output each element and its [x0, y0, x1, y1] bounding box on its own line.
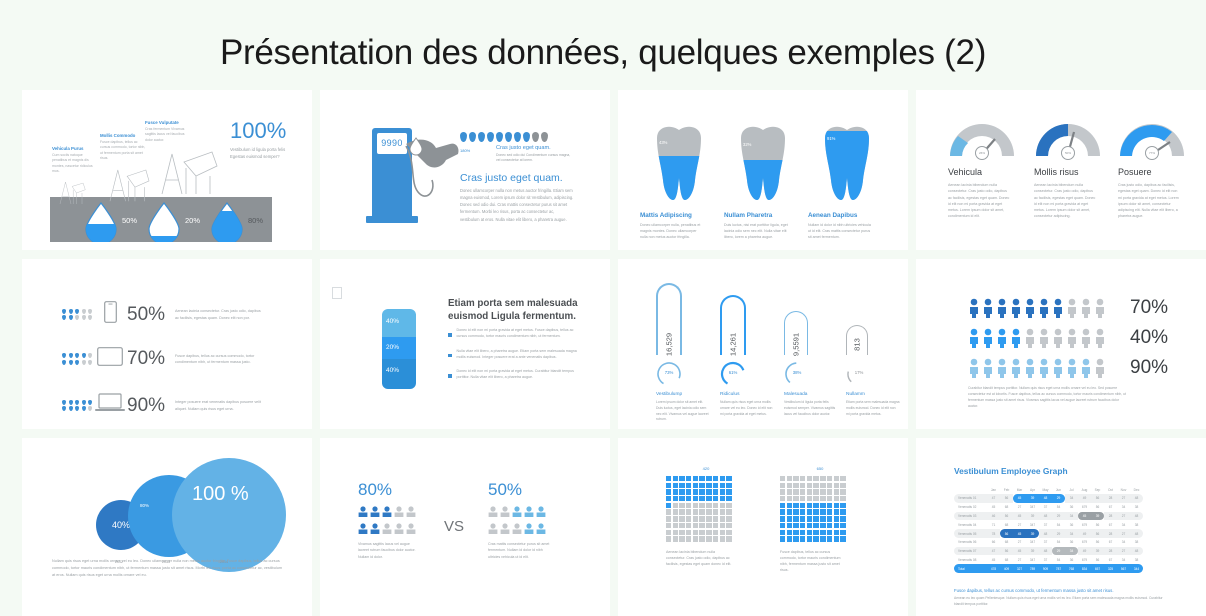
table-row[interactable]: Venenatis 03465645394829344539282748	[954, 512, 1143, 521]
tube-icon: 813	[846, 325, 868, 355]
waffle-cell	[813, 483, 818, 488]
waffle-cell	[793, 536, 798, 541]
waffle-cell	[706, 496, 711, 501]
table-cell: 68	[1000, 520, 1013, 529]
waffle-grid-0	[666, 476, 746, 542]
drop-icon	[75, 353, 79, 358]
waffle-cell	[713, 483, 718, 488]
waffle-text-1: Fusce dapibus, tellus ac cursus commodo,…	[780, 549, 846, 574]
tooth-block-1: 32% Nullam Pharetra Duis luctus, nisi er…	[724, 124, 802, 240]
gauge-block-0: 26% Vehicula Aenean lacinia bibendum nul…	[948, 122, 1030, 220]
gauge-block-2: 77% Posuere Cras justo odio, dapibus ac …	[1118, 122, 1200, 220]
waffle-cell	[686, 489, 691, 494]
drop-icon-empty	[82, 315, 86, 320]
card-people-pictogram[interactable]: 70% 40%	[916, 259, 1206, 429]
waffle-cell	[793, 476, 798, 481]
drop-icon	[478, 132, 485, 142]
waffle-text-0: Aenean lacinia bibendum nulla consectetu…	[666, 549, 732, 568]
table-cell: 49	[1078, 529, 1091, 538]
device-text-0: Aenean lacinia consectetur. Cras justo o…	[175, 308, 261, 321]
waffle-cell	[686, 509, 691, 514]
table-cell: 327	[1013, 564, 1026, 573]
table-cell: 29	[1052, 512, 1065, 521]
table-cell: 48	[1039, 529, 1052, 538]
card-devices[interactable]: 50% Aenean lacinia consectetur. Cras jus…	[22, 259, 312, 429]
people-icons-1	[968, 328, 1118, 348]
waffle-cell	[679, 523, 684, 528]
waffle-label-0: 420	[666, 466, 746, 471]
bullet-item: Donec id elit non mi porta gravida at eg…	[448, 327, 578, 340]
table-cell: 37	[1039, 520, 1052, 529]
card-waffle-charts[interactable]: 420 Aenean lacinia bibendum nulla consec…	[618, 438, 908, 616]
table-cell: 56	[1091, 555, 1104, 564]
waffle-cell	[827, 536, 832, 541]
waffle-cell	[840, 489, 845, 494]
table-cell: 39	[1091, 512, 1104, 521]
table-cell: 325	[1104, 564, 1117, 573]
month-header: Feb	[1000, 486, 1013, 494]
table-cell: 27	[1013, 520, 1026, 529]
waffle-cell	[813, 489, 818, 494]
card-tubes[interactable]: 16,529 73% Vestibulump Lorem ipsum dolor…	[618, 259, 908, 429]
drop-icon	[69, 406, 73, 411]
waffle-cell	[666, 536, 671, 541]
waffle-cell	[834, 523, 839, 528]
employee-footer-link[interactable]: Fusce dapibus, tellus ac cursus commodo,…	[954, 588, 1114, 593]
tube-value-3: 813	[853, 338, 862, 351]
waffle-cell	[793, 509, 798, 514]
waffle-cell	[780, 509, 785, 514]
drop-icon	[62, 406, 66, 411]
drop-icon	[69, 309, 73, 314]
waffle-cell	[827, 476, 832, 481]
tablet-icon	[93, 347, 127, 371]
waffle-cell	[840, 496, 845, 501]
table-cell: 48	[1039, 512, 1052, 521]
waffle-cell	[713, 503, 718, 508]
waffle-cell	[713, 509, 718, 514]
card-teeth[interactable]: 43% Mattis Adipiscing Donec ullamcorper …	[618, 90, 908, 250]
waffle-cell	[793, 523, 798, 528]
people-icons-2	[968, 358, 1118, 378]
gauge-text-0: Aenean lacinia bibendum nulla consectetu…	[948, 182, 1010, 220]
bullet-text-1: Nulla vitae elit libero, a pharetra augu…	[457, 348, 579, 361]
table-cell: 36	[1065, 503, 1078, 512]
drop-icon	[69, 400, 73, 405]
employee-table[interactable]: JanFebMarAprMayJunJulAugSepOctNovDecVene…	[954, 486, 1143, 573]
table-cell: 344	[1130, 564, 1143, 573]
bottle-icon: 40% 20% 40%	[382, 297, 416, 389]
waffle-cell	[713, 523, 718, 528]
tooth-title-2: Aenean Dapibus	[808, 212, 886, 219]
bullet-dot	[448, 333, 452, 337]
table-cell: 28	[1104, 529, 1117, 538]
oil-drop-2	[210, 202, 244, 247]
waffle-cell	[834, 489, 839, 494]
waffle-cell	[699, 536, 704, 541]
table-cell: 679	[1078, 538, 1091, 547]
waffle-cell	[840, 476, 845, 481]
waffle-cell	[813, 536, 818, 541]
people-row-2: 90%	[968, 357, 1168, 379]
drop-icon	[496, 132, 503, 142]
waffle-cell	[807, 530, 812, 535]
gauge-icon: 77%	[1118, 122, 1186, 158]
waffle-cell	[686, 496, 691, 501]
tube-text-3: Etiam porta sem malesuada magna mollis e…	[846, 400, 900, 417]
waffle-cell	[787, 536, 792, 541]
waffle-cell	[713, 489, 718, 494]
drop-icon	[62, 400, 66, 405]
table-cell: 36	[1065, 538, 1078, 547]
bottle-neck	[332, 287, 342, 299]
table-cell: 45	[1013, 512, 1026, 521]
waffle-cell	[679, 496, 684, 501]
table-cell: 39	[1026, 547, 1039, 556]
tube-pct-0: 73%	[656, 370, 682, 375]
drop-icon	[82, 406, 86, 411]
waffle-cell	[820, 496, 825, 501]
oil-headline-sub: Vestibulum id ligula porta felis Egestas…	[230, 147, 300, 160]
table-cell: 29	[1052, 547, 1065, 556]
table-cell: 38	[1130, 555, 1143, 564]
table-cell: 39	[1026, 512, 1039, 521]
oil-drop-pct-0: 50%	[122, 216, 137, 225]
month-header: Oct	[1104, 486, 1117, 494]
tube-icon: 9,5591	[784, 311, 808, 355]
waffle-cell	[793, 516, 798, 521]
vs-right-icons-row-2	[488, 523, 598, 534]
waffle-cell	[813, 476, 818, 481]
waffle-cell	[686, 503, 691, 508]
vs-right-text: Cras mattis consectetur purus sit amet f…	[488, 541, 550, 560]
waffle-cell	[807, 516, 812, 521]
bullet-item: Donec id elit non mi porta gravida at eg…	[448, 368, 578, 381]
waffle-cell	[720, 516, 725, 521]
vs-separator: VS	[444, 518, 464, 535]
device-pct-0: 50%	[127, 304, 175, 326]
card-oil-derricks[interactable]: Vehicula Purus Cum sociis natoque penati…	[22, 90, 312, 250]
waffle-cell	[699, 476, 704, 481]
table-cell: 56	[1000, 529, 1013, 538]
slide-page: Présentation des données, quelques exemp…	[0, 0, 1206, 616]
waffle-cell	[706, 530, 711, 535]
tube-value-2: 9,5591	[792, 333, 801, 356]
waffle-cell	[820, 476, 825, 481]
tube-text-1: Nullam quis risus eget urna mollis ornar…	[720, 400, 774, 417]
waffle-cell	[713, 530, 718, 535]
device-pct-2: 90%	[127, 395, 175, 417]
table-cell: 39	[1091, 547, 1104, 556]
waffle-cell	[673, 523, 678, 528]
waffle-cell	[813, 516, 818, 521]
vs-left-icons-row-1	[358, 506, 468, 517]
device-pct-1: 70%	[127, 348, 175, 370]
waffle-cell	[720, 489, 725, 494]
card-employee-table[interactable]: Vestibulum Employee Graph JanFebMarAprMa…	[916, 438, 1206, 616]
tube-title-1: Ridiculus	[720, 392, 774, 397]
table-cell: 34	[1065, 494, 1078, 503]
table-cell: 56	[1091, 503, 1104, 512]
waffle-cell	[666, 489, 671, 494]
device-row-1: 70% Fusce dapibus, tellus ac cursus comm…	[62, 347, 261, 371]
waffle-cell	[807, 489, 812, 494]
table-cell: 834	[1078, 564, 1091, 573]
waffle-cell	[699, 530, 704, 535]
tooth-title-0: Mattis Adipiscing	[640, 212, 718, 219]
table-cell: 657	[1091, 564, 1104, 573]
waffle-cell	[820, 536, 825, 541]
gauge-icon: 26%	[948, 122, 1016, 158]
table-cell: 45	[1013, 494, 1026, 503]
table-header-row: JanFebMarAprMayJunJulAugSepOctNovDec	[954, 486, 1143, 494]
waffle-cell	[726, 536, 731, 541]
drop-icon-empty	[82, 360, 86, 365]
table-cell: 347	[1026, 555, 1039, 564]
waffle-label-1: 650	[780, 466, 860, 471]
table-cell: 48	[1130, 494, 1143, 503]
drop-icon	[469, 132, 476, 142]
waffle-cell	[693, 489, 698, 494]
month-header: Jan	[987, 486, 1000, 494]
waffle-cell	[699, 516, 704, 521]
waffle-cell	[686, 476, 691, 481]
row-label: Venenatis 08	[954, 555, 987, 564]
month-header: Jul	[1065, 486, 1078, 494]
waffle-cell	[793, 496, 798, 501]
employee-table-title: Vestibulum Employee Graph	[954, 466, 1068, 476]
waffle-cell	[720, 503, 725, 508]
waffle-cell	[787, 530, 792, 535]
waffle-cell	[679, 483, 684, 488]
people-pct-1: 40%	[1130, 327, 1168, 349]
waffle-cell	[834, 516, 839, 521]
table-cell: 347	[1026, 538, 1039, 547]
drop-icon	[75, 406, 79, 411]
waffle-cell	[780, 536, 785, 541]
waffle-cell	[720, 483, 725, 488]
waffle-cell	[686, 516, 691, 521]
waffle-cell	[827, 509, 832, 514]
table-cell: 409	[1000, 564, 1013, 573]
tooth-text-1: Duis luctus, nisi erat porttitor ligula,…	[724, 222, 788, 240]
waffle-cell	[813, 523, 818, 528]
waffle-cell	[693, 483, 698, 488]
drop-icon-empty	[541, 132, 548, 142]
waffle-cell	[706, 483, 711, 488]
tube-icon: 16,529	[656, 283, 682, 355]
people-row-0: 70%	[968, 297, 1168, 319]
table-cell: 36	[1065, 555, 1078, 564]
table-row[interactable]: Venenatis 0245682734737543667956673438	[954, 503, 1143, 512]
waffle-cell	[673, 476, 678, 481]
waffle-cell	[720, 530, 725, 535]
table-row[interactable]: Venenatis 0471682734737543667956673438	[954, 520, 1143, 529]
table-cell: 787	[1052, 564, 1065, 573]
drop-icon	[62, 309, 66, 314]
table-row[interactable]: Venenatis 0845682734737543667956673438	[954, 555, 1143, 564]
vs-left-text: Vivamus sagittis lacus vel augue laoreet…	[358, 541, 420, 560]
table-cell: 45	[987, 555, 1000, 564]
waffle-cell	[840, 516, 845, 521]
table-cell: 27	[1117, 547, 1130, 556]
waffle-cell	[713, 536, 718, 541]
table-cell: 54	[1052, 538, 1065, 547]
vs-right-pct: 50%	[488, 480, 598, 500]
tube-value-1: 14,261	[729, 333, 738, 356]
waffle-cell	[706, 476, 711, 481]
table-cell: 56	[1091, 538, 1104, 547]
table-cell: 56	[1000, 494, 1013, 503]
waffle-cell	[666, 503, 671, 508]
table-cell: 38	[1130, 503, 1143, 512]
drop-grid-1	[62, 353, 93, 365]
waffle-cell	[787, 483, 792, 488]
waffle-cell	[666, 516, 671, 521]
waffle-cell	[834, 530, 839, 535]
device-row-0: 50% Aenean lacinia consectetur. Cras jus…	[62, 301, 261, 328]
card-vs-comparison[interactable]: 80%	[320, 438, 610, 616]
drop-icon	[82, 400, 86, 405]
table-cell: 45	[1078, 512, 1091, 521]
waffle-cell	[720, 536, 725, 541]
waffle-block-0: 420 Aenean lacinia bibendum nulla consec…	[666, 466, 746, 567]
table-cell: 28	[1104, 512, 1117, 521]
table-cell: 37	[1039, 503, 1052, 512]
table-cell: 27	[1013, 555, 1026, 564]
waffle-cell	[673, 509, 678, 514]
tube-block-2: 9,5591 38% Malesuada Vestibulum id ligul…	[784, 311, 838, 417]
drop-icon	[487, 132, 494, 142]
tube-title-2: Malesuada	[784, 392, 838, 397]
waffle-cell	[780, 476, 785, 481]
waffle-cell	[673, 496, 678, 501]
drop-icon	[75, 360, 79, 365]
waffle-cell	[706, 509, 711, 514]
table-cell: 34	[1065, 547, 1078, 556]
gauge-title-0: Vehicula	[948, 167, 1030, 177]
waffle-cell	[673, 530, 678, 535]
waffle-cell	[800, 476, 805, 481]
tube-text-0: Lorem ipsum dolor sit amet elit. Duis lu…	[656, 400, 710, 423]
drop-icon-empty	[88, 353, 92, 358]
drop-icon	[514, 132, 521, 142]
waffle-cell	[693, 523, 698, 528]
waffle-cell	[720, 509, 725, 514]
table-row[interactable]: Total47840932778990978776883465732556734…	[954, 564, 1143, 573]
table-row[interactable]: Venenatis 0666682734737543667956673438	[954, 538, 1143, 547]
device-text-2: Integer posuere erat venenatis dapibus p…	[175, 399, 261, 412]
waffle-cell	[699, 489, 704, 494]
waffle-cell	[673, 536, 678, 541]
pump-mini-text: Donec sed odio dui Condimentum cursus ma…	[496, 153, 574, 164]
card-gas-pump[interactable]: 9990 180% Cras justo eget quam. Donec se…	[320, 90, 610, 250]
tube-title-3: Nullamm	[846, 392, 900, 397]
table-cell: 39	[1026, 494, 1039, 503]
tube-value-0: 16,529	[665, 333, 674, 356]
drop-icon	[460, 132, 467, 142]
waffle-cell	[713, 496, 718, 501]
people-pct-2: 90%	[1130, 357, 1168, 379]
tooth-block-0: 43% Mattis Adipiscing Donec ullamcorper …	[640, 124, 718, 240]
gauge-text-1: Aenean lacinia bibendum nulla consectetu…	[1034, 182, 1096, 220]
table-cell: 71	[987, 520, 1000, 529]
waffle-cell	[706, 523, 711, 528]
smartphone-icon	[93, 301, 127, 328]
waffle-cell	[827, 503, 832, 508]
tube-icon: 14,261	[720, 295, 746, 355]
table-cell: 67	[1104, 503, 1117, 512]
waffle-cell	[699, 496, 704, 501]
table-row[interactable]: Venenatis 01475645394829344956282748	[954, 494, 1143, 503]
waffle-cell	[834, 503, 839, 508]
drop-icon-empty	[82, 309, 86, 314]
waffle-cell	[827, 483, 832, 488]
card-bottle[interactable]: 40% 20% 40% Etiam porta sem malesuada eu…	[320, 259, 610, 429]
waffle-cell	[706, 516, 711, 521]
table-cell: 68	[1000, 555, 1013, 564]
waffle-cell	[840, 530, 845, 535]
waffle-cell	[807, 476, 812, 481]
waffle-cell	[706, 536, 711, 541]
table-cell: 46	[987, 512, 1000, 521]
row-label: Venenatis 02	[954, 503, 987, 512]
waffle-cell	[666, 476, 671, 481]
row-label: Venenatis 06	[954, 538, 987, 547]
device-text-1: Fusce dapibus, tellus ac cursus commodo,…	[175, 353, 261, 366]
people-note: Curabitur blandit tempus porttitor. Null…	[968, 385, 1128, 410]
tooth-pct-2: 91%	[827, 136, 835, 141]
waffle-cell	[673, 503, 678, 508]
card-bubbles[interactable]: 40% 80% 100 % 2012 2013 2014 Nullam quis…	[22, 438, 312, 616]
table-cell: 27	[1117, 512, 1130, 521]
row-label: Venenatis 03	[954, 512, 987, 521]
table-row[interactable]: Venenatis 05785645394829344956282748	[954, 529, 1143, 538]
card-grid: Vehicula Purus Cum sociis natoque penati…	[22, 90, 1185, 616]
table-cell: 27	[1013, 538, 1026, 547]
waffle-cell	[793, 530, 798, 535]
waffle-cell	[686, 483, 691, 488]
table-cell: 34	[1065, 512, 1078, 521]
table-cell: 78	[987, 529, 1000, 538]
table-cell: 45	[1013, 547, 1026, 556]
waffle-cell	[679, 509, 684, 514]
table-cell: 56	[1091, 494, 1104, 503]
waffle-cell	[807, 509, 812, 514]
month-header: Dec	[1130, 486, 1143, 494]
waffle-cell	[787, 509, 792, 514]
table-row[interactable]: Venenatis 07475645394829344939282748	[954, 547, 1143, 556]
drop-icon-empty	[88, 406, 92, 411]
oil-headline-number: 100%	[230, 120, 300, 142]
pump-mini-title: Cras justo eget quam.	[496, 145, 574, 151]
tube-arc-3: 17%	[846, 361, 872, 387]
table-cell: 67	[1104, 538, 1117, 547]
table-cell: 34	[1117, 520, 1130, 529]
waffle-cell	[726, 496, 731, 501]
waffle-cell	[793, 503, 798, 508]
waffle-cell	[679, 503, 684, 508]
card-gauges[interactable]: 26% Vehicula Aenean lacinia bibendum nul…	[916, 90, 1206, 250]
drop-icon	[62, 353, 66, 358]
waffle-cell	[827, 516, 832, 521]
tooth-icon: 32%	[735, 124, 791, 202]
employee-footer-note: Aenean eu leo quam Pellentesque. Nullam …	[954, 596, 1166, 608]
waffle-cell	[787, 496, 792, 501]
waffle-cell	[726, 476, 731, 481]
table-cell: 36	[1065, 520, 1078, 529]
waffle-cell	[834, 536, 839, 541]
